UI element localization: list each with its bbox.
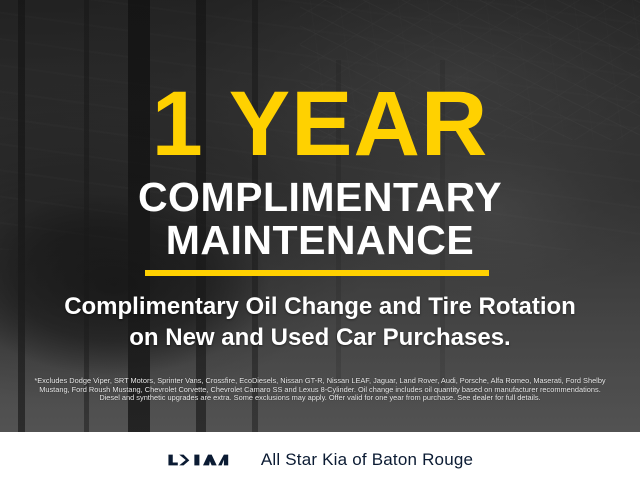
- offer-description: Complimentary Oil Change and Tire Rotati…: [0, 291, 640, 353]
- banner-content: 1 YEAR COMPLIMENTARY MAINTENANCE Complim…: [0, 0, 640, 488]
- subheadline: COMPLIMENTARY MAINTENANCE: [0, 176, 640, 262]
- headline-1-year: 1 YEAR: [0, 78, 640, 170]
- dealer-footer-bar: All Star Kia of Baton Rouge: [0, 432, 640, 488]
- yellow-divider-rule: [145, 270, 489, 276]
- subheadline-line-1: COMPLIMENTARY: [138, 174, 502, 220]
- offer-description-line-2: on New and Used Car Purchases.: [0, 322, 640, 353]
- dealer-name: All Star Kia of Baton Rouge: [261, 450, 473, 470]
- disclaimer-fine-print: *Excludes Dodge Viper, SRT Motors, Sprin…: [14, 377, 626, 403]
- offer-description-line-1: Complimentary Oil Change and Tire Rotati…: [0, 291, 640, 322]
- subheadline-line-2: MAINTENANCE: [0, 219, 640, 262]
- promotional-banner: 1 YEAR COMPLIMENTARY MAINTENANCE Complim…: [0, 0, 640, 488]
- kia-logo: [167, 450, 239, 470]
- disclaimer-line-3: Diesel and synthetic upgrades are extra.…: [14, 394, 626, 403]
